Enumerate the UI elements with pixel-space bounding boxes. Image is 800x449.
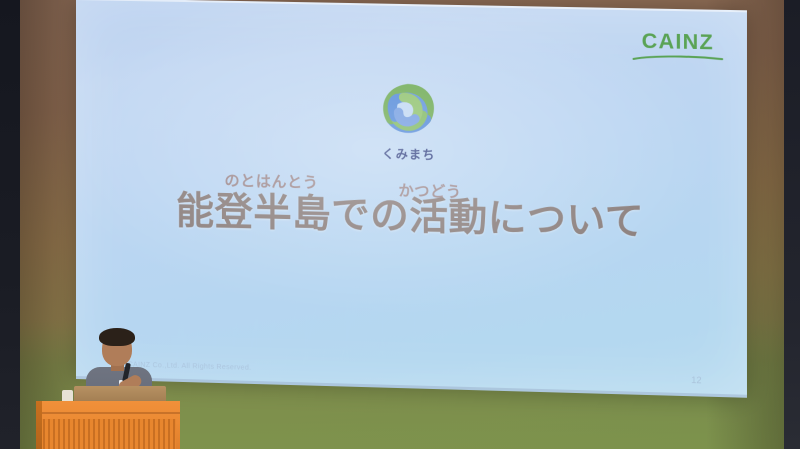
furigana-katsudou: かつどう: [398, 179, 461, 202]
presentation-scene: CAINZ くみまち: [0, 0, 800, 449]
kumimachi-logo-block: くみまち: [76, 72, 747, 170]
right-dark-trim: [784, 0, 800, 449]
kumimachi-knot-icon: [376, 78, 441, 142]
cainz-wordmark: CAINZ: [632, 30, 725, 53]
left-dark-trim: [0, 0, 20, 449]
cainz-logo: CAINZ: [632, 30, 725, 62]
presenter-hair: [99, 328, 135, 346]
kumimachi-label: くみまち: [382, 145, 435, 163]
podium-side: [36, 401, 42, 449]
slide-page-number: 12: [691, 375, 701, 385]
slide-title-block: のとはんとう かつどう 能登半島での活動について: [76, 166, 747, 245]
underline-swoosh-icon: [632, 54, 725, 63]
podium-slats: [40, 419, 176, 449]
furigana-noto-hanto: のとはんとう: [225, 169, 319, 192]
